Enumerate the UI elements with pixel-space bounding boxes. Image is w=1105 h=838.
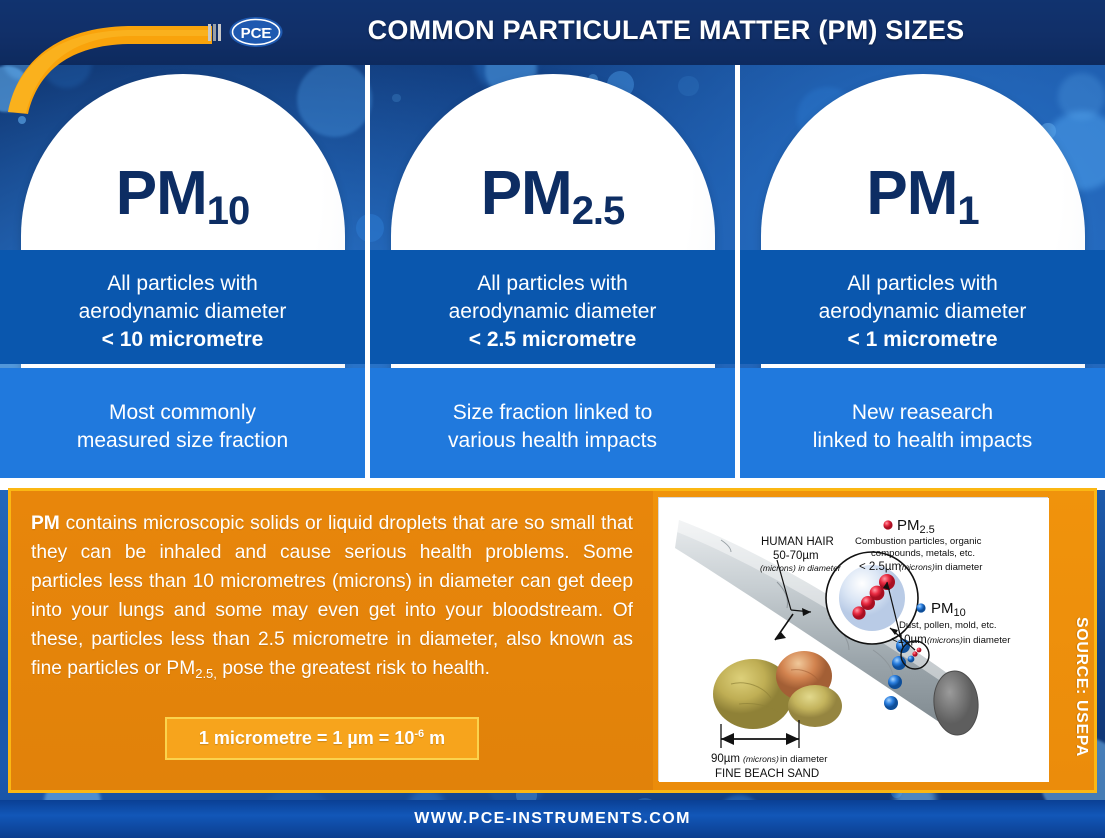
infographic-root: PCE Instruments COMMON PARTICULATE MATTE… — [0, 0, 1105, 838]
hair-label-line1: HUMAN HAIR — [761, 536, 834, 548]
pm25-legend-line3c: in diameter — [935, 562, 983, 573]
pm25-desc-line1: All particles with — [477, 272, 628, 295]
card-divider-1 — [365, 65, 370, 480]
card-divider-2 — [735, 65, 740, 480]
pm25-note-line2: various health impacts — [448, 429, 657, 452]
pm10-description-band: All particles with aerodynamic diameter … — [0, 250, 365, 364]
info-paragraph-part2: pose the greatest risk to health. — [217, 658, 490, 679]
pce-logo-subtext: Instruments — [256, 27, 272, 31]
pm10-note-band: Most commonly measured size fraction — [0, 368, 365, 480]
pm25-label-sub: 2.5 — [572, 189, 625, 233]
source-label: SOURCE: USEPA — [1072, 617, 1090, 757]
pm1-label: PM1 — [761, 158, 1085, 229]
hair-label-line3: (microns) in diameter — [760, 563, 842, 573]
pm10-particle — [884, 696, 898, 710]
formula-box: 1 micrometre = 1 µm = 10-6 m — [165, 717, 479, 760]
pm25-description-band: All particles with aerodynamic diameter … — [370, 250, 735, 364]
info-paragraph-sub: 2.5, — [195, 666, 217, 681]
pm10-desc-line2: aerodynamic diameter — [79, 300, 287, 323]
formula-text: 1 micrometre = 1 µm = 10-6 m — [199, 728, 445, 749]
pm1-note-line1: New reasearch — [852, 401, 993, 424]
pm1-label-main: PM — [866, 159, 957, 228]
footer-bar: WWW.PCE-INSTRUMENTS.COM — [0, 800, 1105, 838]
sand-label-line1c: in diameter — [780, 754, 828, 765]
pm10-particle — [888, 675, 902, 689]
pm1-desc-line2: aerodynamic diameter — [819, 300, 1027, 323]
pm-card-pm1[interactable]: PM1 All particles with aerodynamic diame… — [740, 65, 1105, 480]
pm1-label-sub: 1 — [957, 189, 978, 233]
sand-label-line1b: (microns) — [743, 754, 779, 764]
pm1-note-line2: linked to health impacts — [813, 429, 1032, 452]
sand-label-line1: 90µm — [711, 753, 740, 765]
info-panel: PM contains microscopic solids or liquid… — [8, 488, 1097, 793]
pm10-legend-line2: <10µm — [891, 634, 927, 646]
pm10-note-line2: measured size fraction — [77, 429, 288, 452]
pm10-desc-line3: < 10 micrometre — [102, 328, 264, 351]
footer-website[interactable]: WWW.PCE-INSTRUMENTS.COM — [414, 810, 691, 828]
epa-particle-size-diagram: HUMAN HAIR 50-70µm (microns) in diameter… — [659, 498, 1049, 782]
pm25-note-line1: Size fraction linked to — [453, 401, 653, 424]
sand-label-line2: FINE BEACH SAND — [715, 768, 819, 780]
sand-grain-3 — [788, 685, 842, 727]
pm1-description-band: All particles with aerodynamic diameter … — [740, 250, 1105, 364]
pm10-note-line1: Most commonly — [109, 401, 256, 424]
formula-main: 1 micrometre = 1 µm = 10 — [199, 728, 415, 748]
formula-unit: m — [424, 728, 445, 748]
hair-label-line2: 50-70µm — [773, 550, 819, 562]
pm25-legend-line2: compounds, metals, etc. — [871, 548, 975, 559]
page-title: COMMON PARTICULATE MATTER (PM) SIZES — [316, 15, 1016, 46]
pm25-legend-line3: < 2.5µm — [859, 561, 901, 573]
pm10-legend-line2c: in diameter — [963, 635, 1011, 646]
pm-card-strip: PM10 All particles with aerodynamic diam… — [0, 65, 1105, 480]
pm25-desc-line3: < 2.5 micrometre — [469, 328, 637, 351]
epa-figure-frame: HUMAN HAIR 50-70µm (microns) in diameter… — [658, 497, 1048, 781]
pm10-label-sub: 10 — [207, 189, 250, 233]
pm25-legend-dot — [883, 520, 892, 529]
pce-logo: PCE Instruments — [228, 14, 284, 50]
pm25-label: PM2.5 — [391, 158, 715, 229]
brand-swoosh-icon — [0, 0, 260, 115]
info-paragraph-part1: contains microscopic solids or liquid dr… — [31, 513, 633, 679]
formula-exponent: -6 — [414, 728, 424, 740]
epa-figure-column: HUMAN HAIR 50-70µm (microns) in diameter… — [653, 491, 1094, 790]
pm25-particle — [852, 606, 865, 619]
pm25-legend-line3b: (microns) — [899, 562, 935, 572]
pm10-legend-line1: Dust, pollen, mold, etc. — [899, 620, 997, 631]
pm10-label-main: PM — [116, 159, 207, 228]
pm10-desc-line1: All particles with — [107, 272, 258, 295]
pm25-label-main: PM — [481, 159, 572, 228]
info-text-column: PM contains microscopic solids or liquid… — [11, 491, 653, 790]
pm-card-pm10[interactable]: PM10 All particles with aerodynamic diam… — [0, 65, 365, 480]
pm-card-pm25[interactable]: PM2.5 All particles with aerodynamic dia… — [370, 65, 735, 480]
pm1-desc-line1: All particles with — [847, 272, 998, 295]
info-paragraph-lead: PM — [31, 513, 60, 534]
pm1-desc-line3: < 1 micrometre — [848, 328, 998, 351]
pm25-note-band: Size fraction linked to various health i… — [370, 368, 735, 480]
pm10-label: PM10 — [21, 158, 345, 229]
info-paragraph: PM contains microscopic solids or liquid… — [31, 509, 633, 684]
pm25-desc-line2: aerodynamic diameter — [449, 300, 657, 323]
pm25-legend-line1: Combustion particles, organic — [855, 536, 982, 547]
pm10-legend-line2b: (microns) — [927, 635, 963, 645]
pm1-note-band: New reasearch linked to health impacts — [740, 368, 1105, 480]
pm10-legend-dot — [916, 603, 925, 612]
logo-bars-icon — [208, 24, 221, 41]
header-bar: PCE Instruments COMMON PARTICULATE MATTE… — [0, 0, 1105, 65]
